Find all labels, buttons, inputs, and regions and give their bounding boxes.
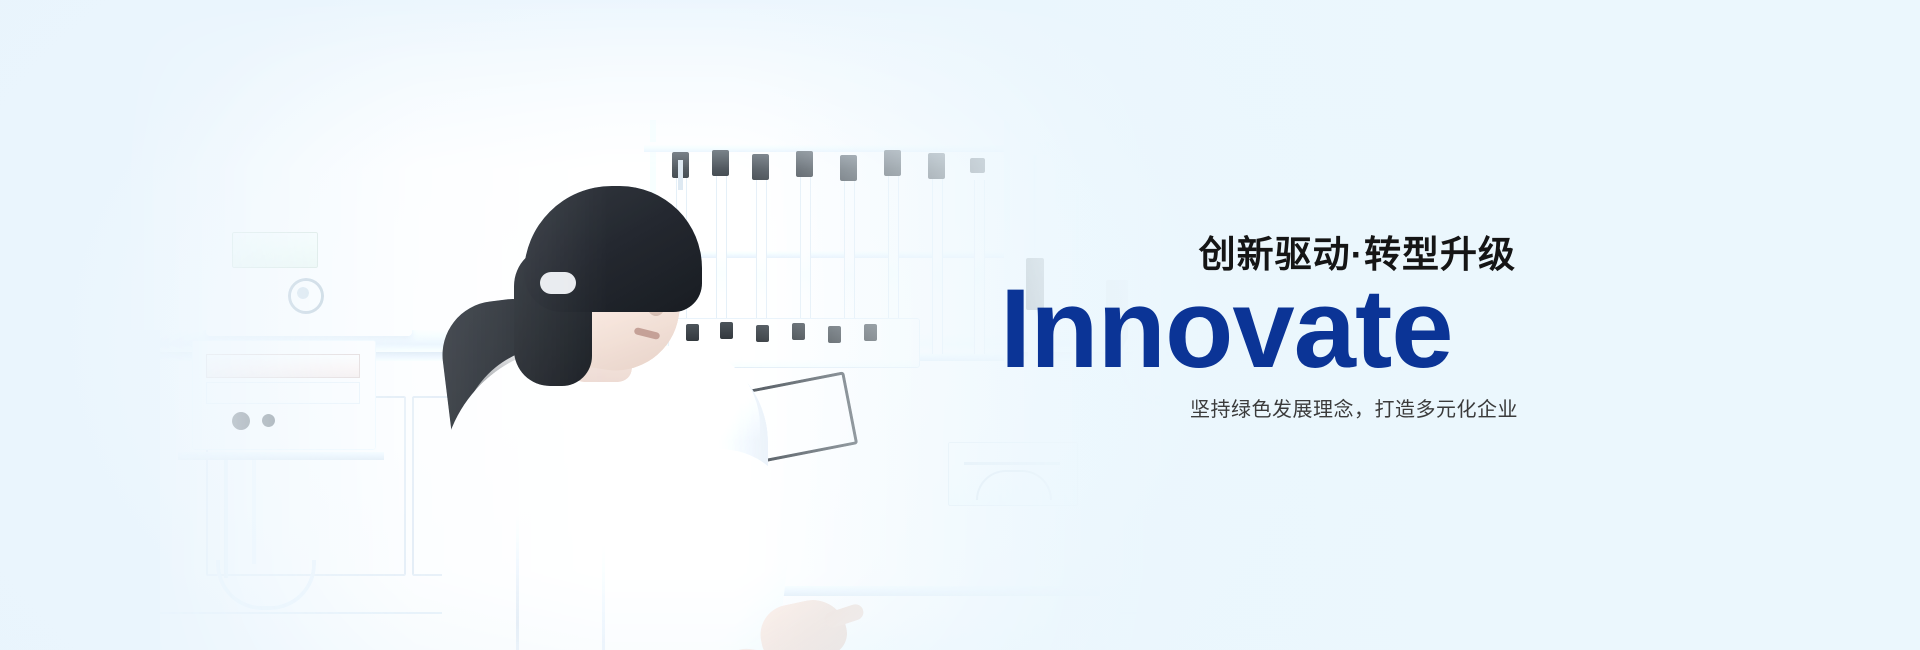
instrument-display bbox=[232, 232, 318, 268]
instrument-slot bbox=[206, 354, 360, 378]
lab-coat-fold bbox=[516, 450, 519, 650]
bench-shelf bbox=[178, 452, 384, 460]
hero-banner: 创新驱动·转型升级 Innovate 坚持绿色发展理念，打造多元化企业 bbox=[0, 0, 1920, 650]
lab-coat-fold bbox=[602, 492, 605, 650]
banner-subline: 坚持绿色发展理念，打造多元化企业 bbox=[1000, 393, 1520, 422]
banner-text-block: 创新驱动·转型升级 Innovate 坚持绿色发展理念，打造多元化企业 bbox=[1000, 236, 1520, 422]
instrument-logo-icon bbox=[288, 278, 324, 314]
lab-tubing bbox=[252, 460, 256, 564]
instrument-knob bbox=[262, 414, 275, 427]
banner-headline: Innovate bbox=[1000, 275, 1520, 383]
bench-instrument-upper bbox=[206, 212, 412, 336]
instrument-slot bbox=[206, 382, 360, 404]
hair-tie bbox=[540, 272, 576, 294]
instrument-knob bbox=[232, 412, 250, 430]
